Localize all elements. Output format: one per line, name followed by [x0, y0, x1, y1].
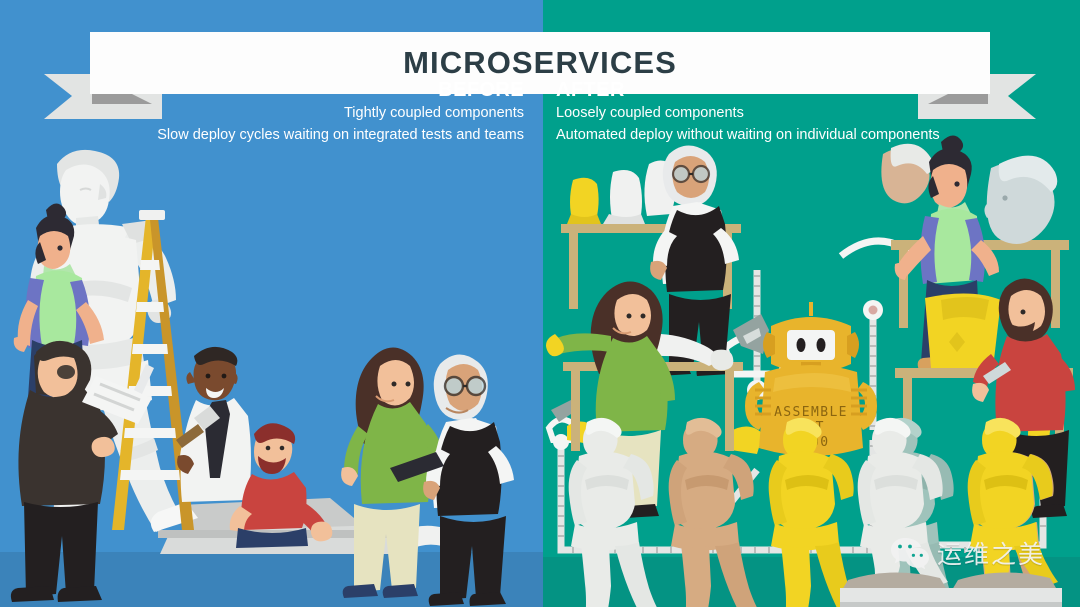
- before-heading-block: BEFORE Tightly coupled components Slow d…: [157, 78, 524, 146]
- watermark-text: 运维之美: [937, 535, 1045, 571]
- finished-statue-7: [950, 418, 1062, 607]
- part-on-rail-1: [729, 426, 763, 454]
- robot-label-line1: ASSEMBLE: [774, 405, 848, 420]
- robot-claw-right: [841, 144, 933, 320]
- finished-statue-6: [840, 418, 952, 607]
- finished-statues-right: [830, 420, 1080, 607]
- after-kicker: AFTER: [556, 78, 940, 102]
- after-bullet-2: Automated deploy without waiting on indi…: [556, 124, 940, 146]
- worker-behind-statue: [176, 347, 251, 502]
- before-kicker: BEFORE: [157, 78, 524, 102]
- watermark: 运维之美: [890, 535, 1045, 571]
- after-bullet-1: Loosely coupled components: [556, 102, 940, 124]
- infographic-canvas: ASSEMBLE BOT 5000: [0, 0, 1080, 607]
- before-bullet-1: Tightly coupled components: [157, 102, 524, 124]
- before-bullet-2: Slow deploy cycles waiting on integrated…: [157, 124, 524, 146]
- wechat-icon: [890, 536, 930, 570]
- after-heading-block: AFTER Loosely coupled components Automat…: [556, 78, 940, 146]
- before-illustration: [0, 150, 543, 607]
